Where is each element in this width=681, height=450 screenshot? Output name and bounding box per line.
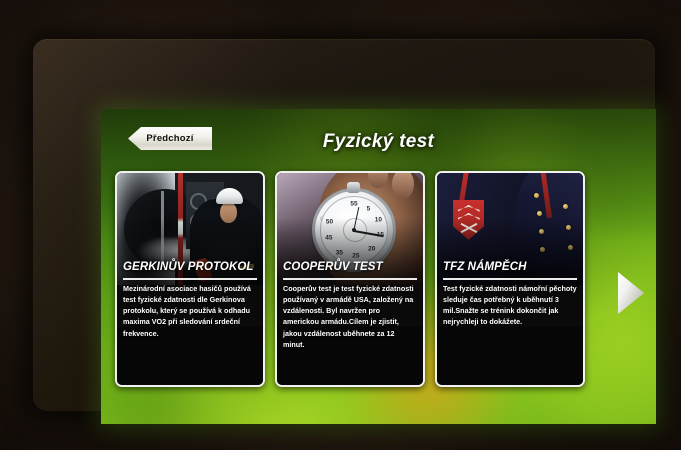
test-card-cooper[interactable]: 55 5 10 15 20 25 35 45 50 — [275, 171, 425, 387]
card-title: TFZ NÁMPĚCH — [443, 261, 577, 273]
card-body-text: Test fyzické zdatnosti námořní pěchoty s… — [443, 283, 577, 328]
card-divider — [283, 278, 417, 280]
card-body-text: Cooperův test je test fyzické zdatnosti … — [283, 283, 417, 350]
test-card-gerkin[interactable]: GERKINŮV PROTOKOL Mezinárodní asociace h… — [115, 171, 265, 387]
card-title: COOPERŮV TEST — [283, 261, 417, 273]
test-card-marine[interactable]: TFZ NÁMPĚCH Test fyzické zdatnosti námoř… — [435, 171, 585, 387]
page-title: Fyzický test — [101, 131, 656, 153]
card-footer — [437, 327, 583, 385]
card-body-text: Mezinárodní asociace hasičů používá test… — [123, 283, 257, 339]
card-divider — [123, 278, 257, 280]
test-card-list: GERKINŮV PROTOKOL Mezinárodní asociace h… — [115, 171, 627, 383]
card-title: GERKINŮV PROTOKOL — [123, 261, 257, 273]
app-screen: Předchozí Fyzický test — [101, 109, 656, 424]
device-bezel: Předchozí Fyzický test — [33, 39, 655, 411]
card-divider — [443, 278, 577, 280]
device-photo: Předchozí Fyzický test — [0, 0, 681, 450]
